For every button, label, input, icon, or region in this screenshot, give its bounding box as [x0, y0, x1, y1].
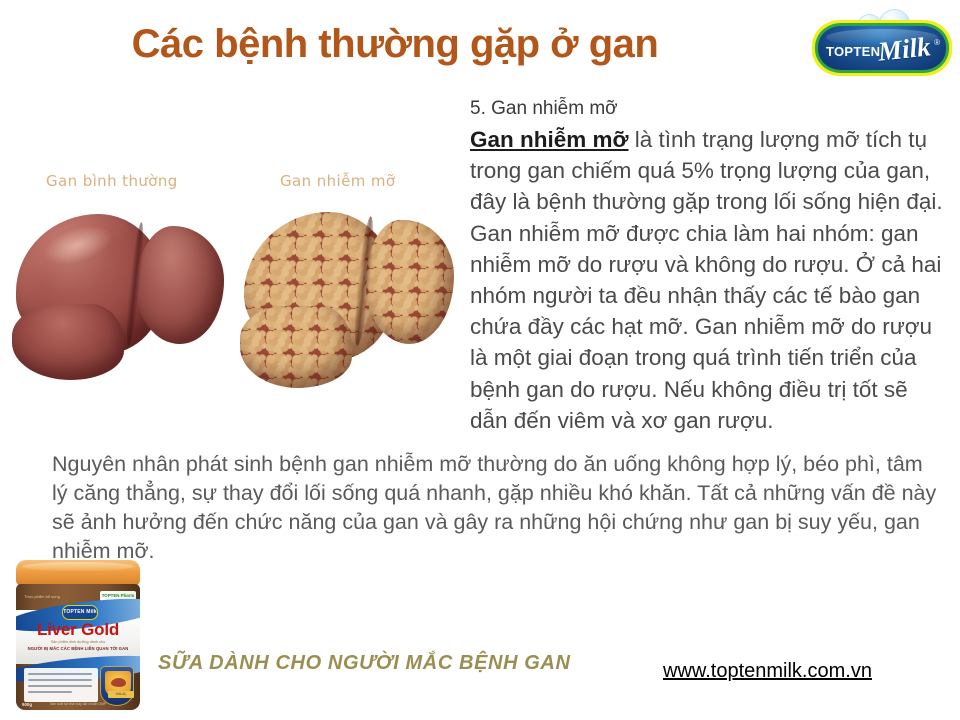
logo-body: TOPTEN Milk ® [818, 26, 946, 70]
section-heading: 5. Gan nhiễm mỡ [470, 98, 940, 120]
product-tagline: SỮA DÀNH CHO NGƯỜI MẮC BỆNH GAN [158, 652, 571, 675]
topten-milk-logo: TOPTEN Milk ® [812, 8, 952, 76]
section-body-text: Gan nhiễm mỡ là tình trạng lượng mỡ tích… [470, 124, 948, 436]
product-subtitle-secondary: NGƯỜI BỊ MẮC CÁC BỆNH LIÊN QUAN TỚI GAN [16, 646, 140, 651]
product-subtitle: Sản phẩm dinh dưỡng dành cho [16, 640, 140, 644]
website-url[interactable]: www.toptenmilk.com.vn [663, 660, 872, 683]
can-info-panel [24, 668, 98, 702]
can-brand-logo: TOPTEN Milk [62, 605, 98, 620]
can-side-text: Thực phẩm bổ sung [24, 594, 60, 599]
normal-liver-left-lobe [136, 226, 224, 344]
can-lid [16, 560, 140, 586]
registered-trademark-icon: ® [934, 38, 940, 47]
fatty-liver-inferior-lobe [240, 306, 352, 388]
halal-badge: HALAL [108, 691, 134, 698]
normal-liver-inferior-lobe [12, 304, 124, 380]
can-body: Thực phẩm bổ sung TOPTEN Pharm TOPTEN Mi… [16, 584, 140, 710]
fatty-liver-illustration [238, 196, 453, 396]
page-title: Các bệnh thường gặp ở gan [0, 22, 790, 67]
can-footer-text: Sản xuất tại nhà máy đạt chuẩn GMP [16, 702, 140, 706]
slide-canvas: Các bệnh thường gặp ở gan TOPTEN Milk ® … [0, 0, 960, 720]
logo-brand-milk: Milk [877, 31, 932, 67]
label-fatty-liver: Gan nhiễm mỡ [280, 172, 395, 190]
normal-liver-illustration [12, 200, 227, 390]
product-can-liver-gold: Thực phẩm bổ sung TOPTEN Pharm TOPTEN Mi… [14, 560, 142, 712]
can-shield-badge [100, 666, 134, 706]
liver-icon [111, 678, 126, 687]
product-name: Liver Gold [16, 620, 140, 640]
body-text: là tình trạng lượng mỡ tích tụ trong gan… [470, 127, 943, 433]
logo-outer-ring: TOPTEN Milk ® [812, 20, 952, 76]
logo-inner-ring: TOPTEN Milk ® [815, 23, 949, 73]
causes-paragraph: Nguyên nhân phát sinh bệnh gan nhiễm mỡ … [52, 450, 940, 566]
fatty-liver-left-lobe [366, 220, 454, 344]
logo-brand-topten: TOPTEN [826, 44, 880, 59]
lead-term: Gan nhiễm mỡ [470, 127, 629, 152]
label-normal-liver: Gan bình thường [46, 172, 178, 190]
